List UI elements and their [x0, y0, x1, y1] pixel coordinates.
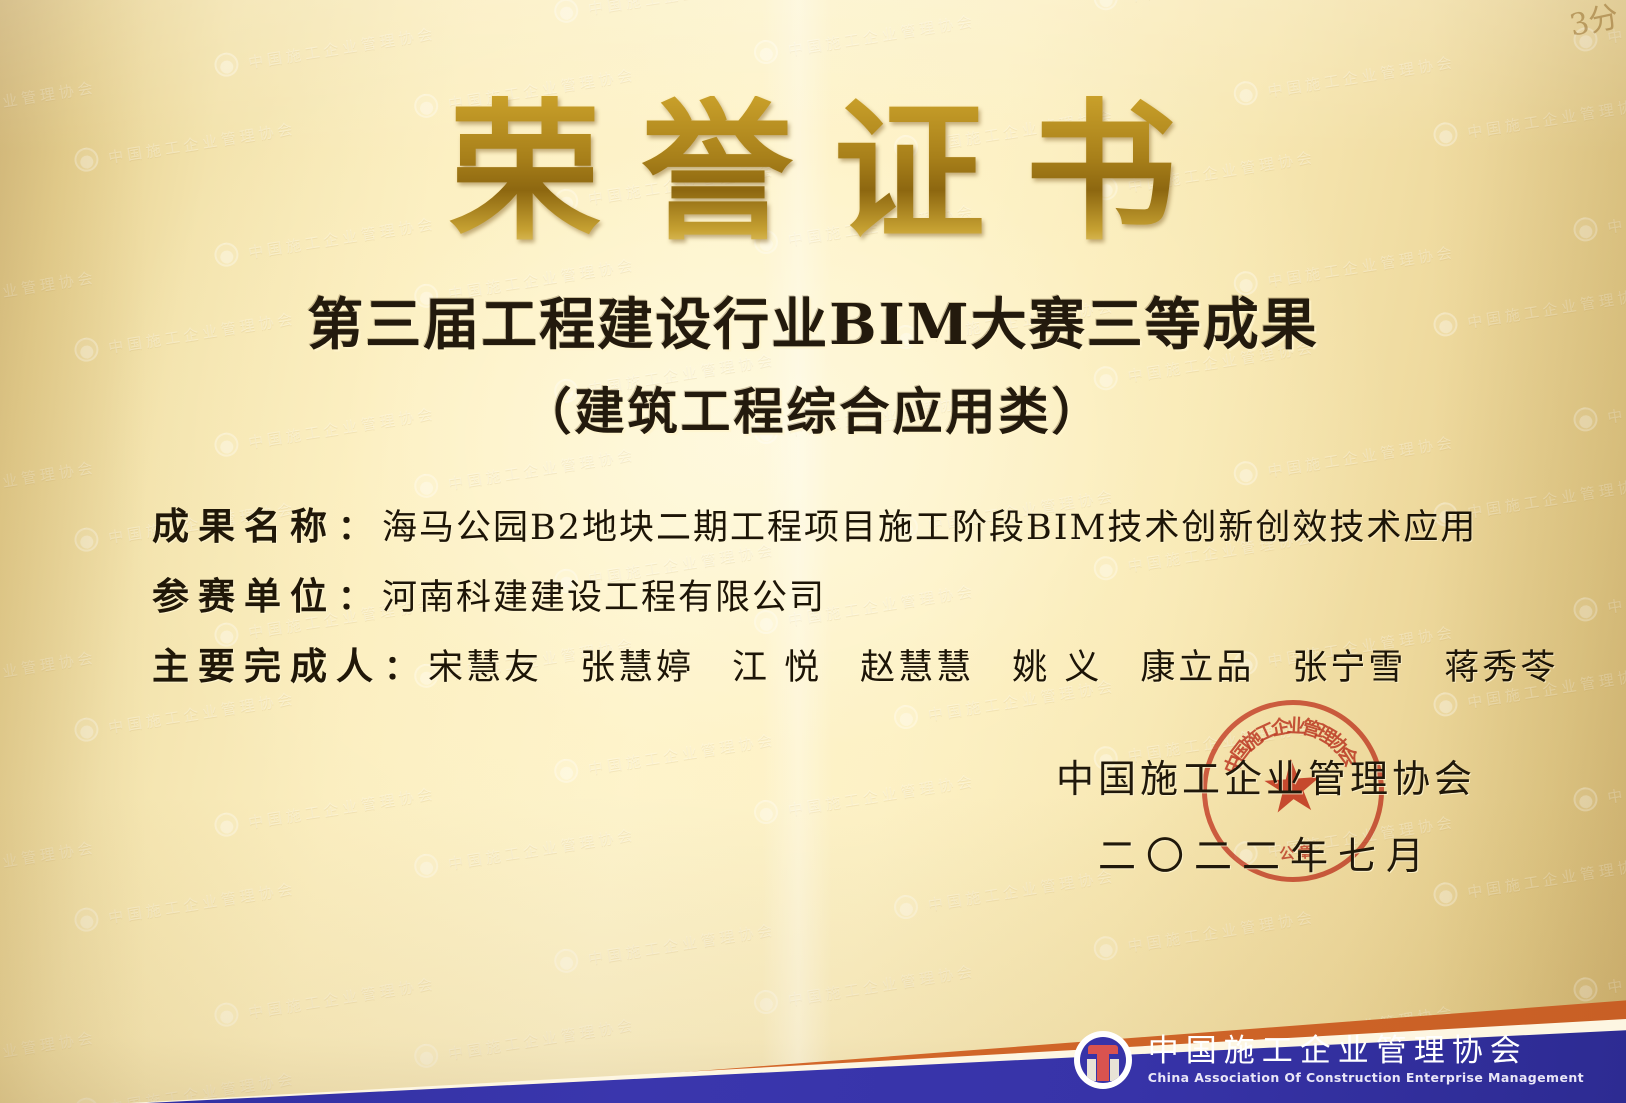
seal-arc-char: 管	[1299, 712, 1325, 743]
field-label-achievement-name: 成果名称	[152, 496, 336, 550]
seal-arc-char: 企	[1269, 711, 1293, 741]
field-label-participating-unit: 参赛单位	[152, 566, 336, 620]
field-colon: ：	[384, 640, 418, 689]
contributor-name: 姚 义	[1012, 639, 1102, 690]
contributor-name: 江 悦	[732, 639, 822, 690]
field-label-contributors: 主要完成人	[152, 636, 382, 690]
seal-arc-char: 工	[1251, 715, 1280, 747]
certificate-page: 中国施工企业管理协会中国施工企业管理协会中国施工企业管理协会中国施工企业管理协会…	[0, 0, 1626, 1103]
issue-date: 二〇二二年七月	[1056, 825, 1476, 880]
field-row-achievement-name: 成果名称 ： 海马公园B2地块二期工程项目施工阶段BIM技术创新创效技术应用	[152, 496, 1506, 550]
issuer-name: 中国施工企业管理协会	[1056, 748, 1476, 803]
field-colon: ：	[338, 570, 372, 619]
certificate-category: （建筑工程综合应用类）	[0, 384, 1626, 439]
contributor-name: 张宁雪	[1292, 639, 1406, 690]
seal-arc-char: 业	[1286, 711, 1306, 739]
seal-arc-char: 理	[1311, 718, 1341, 751]
corner-handwritten-mark: 3分	[1565, 0, 1622, 45]
field-value-achievement-name: 海马公园B2地块二期工程项目施工阶段BIM技术创新创效技术应用	[382, 499, 1506, 550]
field-value-participating-unit: 河南科建建设工程有限公司	[382, 569, 1506, 620]
contributor-name-list: 宋慧友张慧婷江 悦赵慧慧姚 义康立品张宁雪蒋秀苓	[428, 639, 1558, 690]
contributor-name: 宋慧友	[428, 639, 542, 690]
footer-logo-en: China Association Of Construction Enterp…	[1148, 1070, 1584, 1085]
field-row-contributors: 主要完成人 ： 宋慧友张慧婷江 悦赵慧慧姚 义康立品张宁雪蒋秀苓	[152, 636, 1506, 690]
certificate-fields: 成果名称 ： 海马公园B2地块二期工程项目施工阶段BIM技术创新创效技术应用 参…	[152, 496, 1506, 706]
field-colon: ：	[338, 500, 372, 549]
certificate-main-title: 荣誉证书	[0, 96, 1626, 248]
issuer-block: 中国施工企业管理协会 二〇二二年七月	[1056, 748, 1476, 880]
contributor-name: 蒋秀苓	[1444, 639, 1558, 690]
footer-logo-cn: 中国施工企业管理协会	[1148, 1035, 1584, 1068]
contributor-name: 张慧婷	[580, 639, 694, 690]
association-emblem-icon	[1074, 1031, 1132, 1089]
certificate-subtitle: 第三届工程建设行业BIM大赛三等成果	[0, 296, 1626, 355]
field-row-participating-unit: 参赛单位 ： 河南科建建设工程有限公司	[152, 566, 1506, 620]
contributor-name: 赵慧慧	[860, 639, 974, 690]
contributor-name: 康立品	[1140, 639, 1254, 690]
footer-logo-text: 中国施工企业管理协会 China Association Of Construc…	[1148, 1035, 1584, 1085]
footer-association-logo: 中国施工企业管理协会 China Association Of Construc…	[1074, 1031, 1584, 1089]
